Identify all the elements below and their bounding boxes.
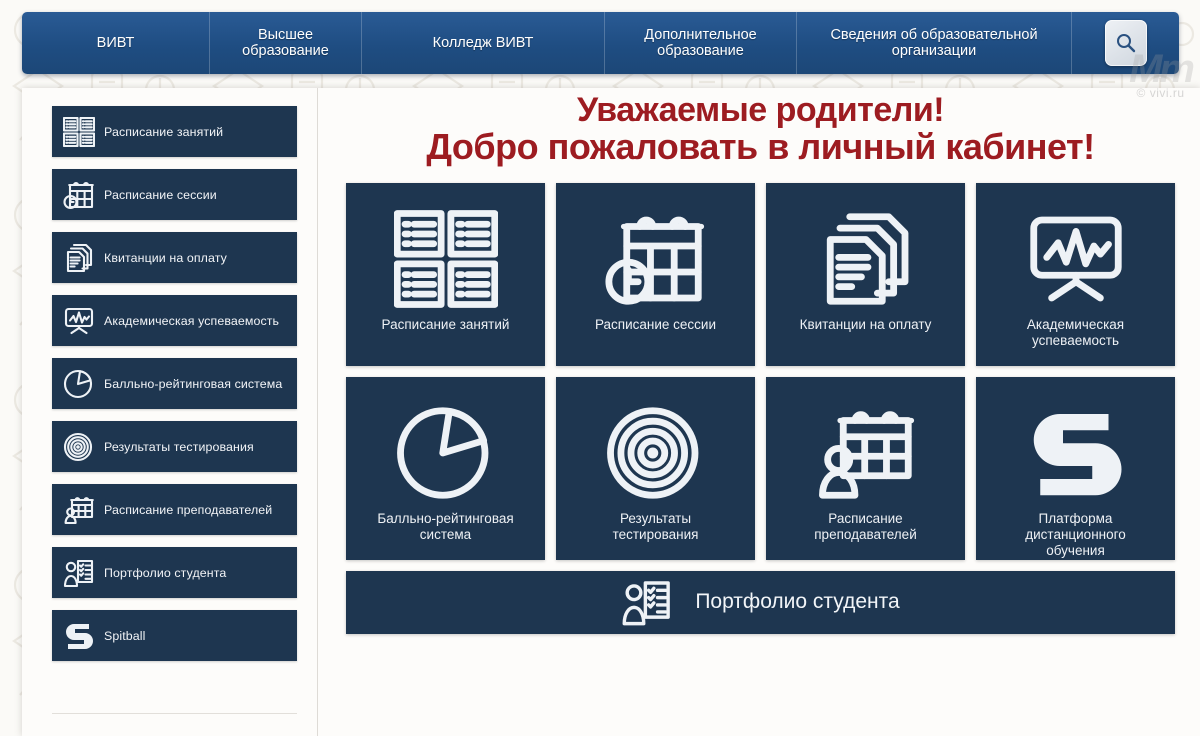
tile-distance-learning-platform[interactable]: Платформа дистанционного обучения [976,377,1175,560]
sidebar-item-label: Балльно-рейтинговая система [104,377,282,391]
spitball-s-icon [60,617,98,655]
sidebar-item-label: Spitball [104,629,145,643]
sidebar-item-label: Портфолио студента [104,566,226,580]
tile-label: Квитанции на оплату [794,317,938,333]
tile-label: Портфолио студента [695,590,899,614]
sidebar-item-class-schedule[interactable]: Расписание занятий [52,106,297,157]
nav-item-vivt[interactable]: ВИВТ [22,12,210,74]
sidebar-item-label: Расписание преподавателей [104,503,272,517]
sidebar-item-label: Расписание занятий [104,125,223,139]
tile-label: Результаты тестирования [607,511,705,543]
documents-stack-icon [60,239,98,277]
spitball-s-icon [1024,395,1128,511]
nav-item-higher-education[interactable]: Высшее образование [210,12,362,74]
calendar-person-icon [814,395,918,511]
tile-rating-system[interactable]: Балльно-рейтинговая система [346,377,545,560]
nav-item-organization-info[interactable]: Сведения об образовательной организации [797,12,1072,74]
tile-teacher-schedule[interactable]: Расписание преподавателей [766,377,965,560]
sidebar-item-session-schedule[interactable]: Расписание сессии [52,169,297,220]
sidebar-item-teacher-schedule[interactable]: Расписание преподавателей [52,484,297,535]
page-content: Расписание занятий Расписание сессии [22,88,1200,736]
nav-item-label: Высшее образование [242,27,329,59]
tile-class-schedule[interactable]: Расписание занятий [346,183,545,366]
calendar-person-icon [60,491,98,529]
tile-test-results[interactable]: Результаты тестирования [556,377,755,560]
sidebar-item-academic-performance[interactable]: Академическая успеваемость [52,295,297,346]
sidebar-item-test-results[interactable]: Результаты тестирования [52,421,297,472]
nav-item-label: Сведения об образовательной организации [830,27,1037,59]
top-navigation: ВИВТ Высшее образование Колледж ВИВТ Доп… [22,12,1179,74]
calendar-clock-icon [60,176,98,214]
pie-chart-icon [60,365,98,403]
grid-lists-icon [60,113,98,151]
tile-academic-performance[interactable]: Академическая успеваемость [976,183,1175,366]
tile-session-schedule[interactable]: Расписание сессии [556,183,755,366]
sidebar: Расписание занятий Расписание сессии [22,88,318,736]
nav-item-label: ВИВТ [97,35,135,51]
page-title: Уважаемые родители! Добро пожаловать в л… [346,92,1175,167]
tile-label: Платформа дистанционного обучения [1019,511,1132,560]
tile-student-portfolio[interactable]: Портфолио студента [346,571,1175,634]
person-checklist-icon [60,554,98,592]
sidebar-item-label: Расписание сессии [104,188,217,202]
person-checklist-icon [621,578,673,627]
sidebar-item-rating-system[interactable]: Балльно-рейтинговая система [52,358,297,409]
sidebar-item-label: Результаты тестирования [104,440,254,454]
tile-payment-receipts[interactable]: Квитанции на оплату [766,183,965,366]
grid-lists-icon [394,201,498,317]
nav-item-label: Дополнительное образование [644,27,756,59]
target-rings-icon [604,395,708,511]
sidebar-item-label: Академическая успеваемость [104,314,279,328]
service-tile-grid: Расписание занятий Ра [346,183,1175,560]
chart-board-icon [1024,201,1128,317]
tile-label: Расписание сессии [589,317,722,333]
nav-item-college-vivt[interactable]: Колледж ВИВТ [362,12,605,74]
tile-label: Балльно-рейтинговая система [371,511,519,543]
search-button[interactable] [1072,12,1179,74]
headline-line-1: Уважаемые родители! [577,91,944,129]
main-panel: Уважаемые родители! Добро пожаловать в л… [318,88,1200,736]
sidebar-item-student-portfolio[interactable]: Портфолио студента [52,547,297,598]
pie-chart-icon [394,395,498,511]
sidebar-item-payment-receipts[interactable]: Квитанции на оплату [52,232,297,283]
calendar-clock-icon [604,201,708,317]
tile-label: Расписание преподавателей [808,511,922,543]
tile-label: Расписание занятий [376,317,516,333]
sidebar-item-label: Квитанции на оплату [104,251,227,265]
chart-board-icon [60,302,98,340]
tile-label: Академическая успеваемость [1021,317,1130,349]
nav-item-label: Колледж ВИВТ [433,35,534,51]
headline-line-2: Добро пожаловать в личный кабинет! [346,128,1175,167]
nav-item-additional-education[interactable]: Дополнительное образование [605,12,797,74]
sidebar-item-spitball[interactable]: Spitball [52,610,297,661]
documents-stack-icon [814,201,918,317]
magnifier-icon [1105,20,1147,66]
target-rings-icon [60,428,98,466]
